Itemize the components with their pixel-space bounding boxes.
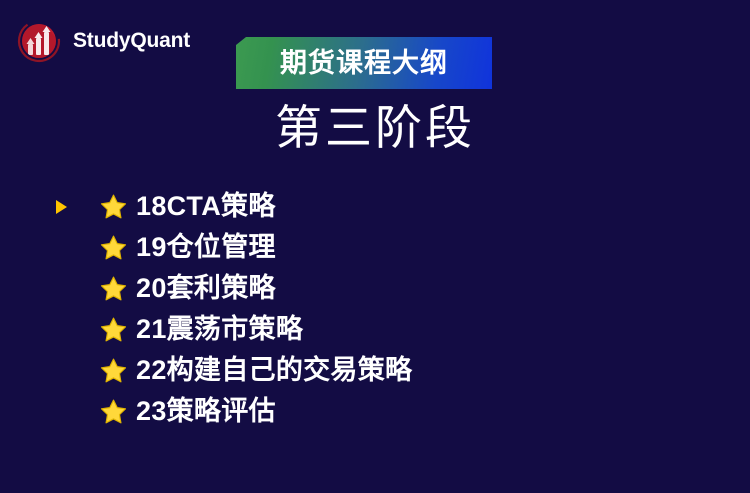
ribbon-label: 期货课程大纲 — [280, 50, 448, 77]
star-icon — [100, 398, 127, 425]
star-icon — [100, 357, 127, 384]
slide-headline: 第三阶段 — [0, 99, 750, 158]
list-item-label: 21震荡市策略 — [136, 316, 303, 343]
list-item[interactable]: 19仓位管理 — [56, 227, 716, 268]
studyquant-logo-icon — [14, 16, 62, 64]
list-item[interactable]: 22构建自己的交易策略 — [56, 350, 716, 391]
course-outline-ribbon: 期货课程大纲 — [236, 37, 492, 89]
star-icon — [100, 316, 127, 343]
list-item[interactable]: 21震荡市策略 — [56, 309, 716, 350]
list-item-label: 23策略评估 — [136, 398, 276, 425]
star-icon — [100, 193, 127, 220]
brand-name: StudyQuant — [73, 30, 190, 51]
brand-lockup: StudyQuant — [14, 16, 190, 64]
list-item-label: 18CTA策略 — [136, 193, 276, 220]
list-item-label: 22构建自己的交易策略 — [136, 357, 412, 384]
triangle-right-icon — [56, 200, 67, 214]
list-item[interactable]: 20套利策略 — [56, 268, 716, 309]
list-item[interactable]: 18CTA策略 — [56, 186, 716, 227]
list-item-label: 20套利策略 — [136, 275, 276, 302]
list-item[interactable]: 23策略评估 — [56, 391, 716, 432]
list-item-label: 19仓位管理 — [136, 234, 276, 261]
star-icon — [100, 275, 127, 302]
slide-canvas: StudyQuant 期货课程大纲 第三阶段 18CTA策略 19仓位管理 — [0, 0, 750, 493]
course-outline-list: 18CTA策略 19仓位管理 20套利策略 21震荡市策略 — [56, 186, 716, 432]
star-icon — [100, 234, 127, 261]
